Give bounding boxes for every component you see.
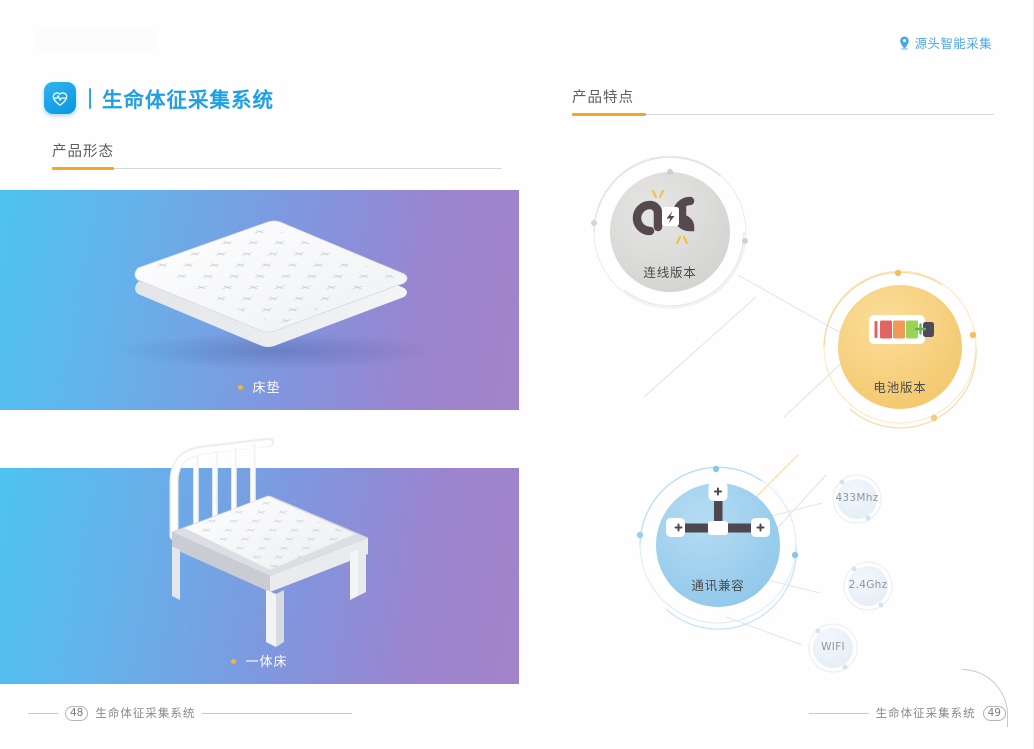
- section-label: 产品形态: [52, 140, 114, 168]
- title-divider: [89, 88, 91, 109]
- section-product-form: 产品形态: [52, 140, 502, 169]
- product-caption: 床垫: [0, 377, 519, 396]
- caption-dot-icon: [238, 385, 243, 390]
- brand-text: 源头智能采集: [915, 33, 992, 52]
- page-title: 生命体征采集系统: [102, 83, 274, 113]
- footer-rule: [202, 713, 352, 714]
- mattress-illustration: [60, 218, 480, 368]
- system-title-row: 生命体征采集系统: [44, 82, 274, 114]
- brand-mark: 源头智能采集: [899, 33, 992, 52]
- footer-right: 生命体征采集系统 49: [809, 705, 1006, 721]
- product-panel-mattress: 床垫: [0, 190, 519, 410]
- section-label: 产品特点: [572, 86, 634, 114]
- caption-text: 一体床: [245, 655, 287, 670]
- caption-dot-icon: [231, 659, 236, 664]
- caption-text: 床垫: [252, 381, 280, 396]
- protocol-bubble-433: [833, 475, 881, 523]
- product-panel-bed: 一体床: [0, 468, 519, 684]
- footer-rule: [809, 713, 869, 714]
- section-rule: [572, 114, 994, 115]
- footer-rule: [28, 713, 58, 714]
- protocol-bubble-wifi: [809, 624, 857, 672]
- node-wired: [591, 156, 748, 308]
- section-rule: [52, 168, 502, 169]
- page-canvas: 源头智能采集 生命体征采集系统 产品形态 产品特点: [0, 0, 1034, 749]
- location-pin-icon: [899, 36, 910, 50]
- page-number-left: 48: [65, 706, 88, 721]
- feature-diagram: 连线版本 电池版本 通讯兼容 433Mhz 2.4Ghz WIFI: [548, 125, 1018, 685]
- section-product-features: 产品特点: [572, 86, 994, 115]
- watermark: [34, 28, 154, 54]
- node-battery: [824, 270, 976, 428]
- feature-diagram-svg: [548, 125, 1018, 685]
- footer-text-right: 生命体征采集系统: [876, 705, 976, 721]
- protocol-bubble-24g: [844, 562, 892, 610]
- footer-left: 48 生命体征采集系统: [28, 705, 352, 721]
- footer-text-left: 生命体征采集系统: [95, 705, 195, 721]
- node-comms: [637, 466, 798, 629]
- product-caption: 一体床: [0, 651, 519, 670]
- bed-illustration: [100, 420, 440, 670]
- heartbeat-pulse-icon: [44, 82, 76, 114]
